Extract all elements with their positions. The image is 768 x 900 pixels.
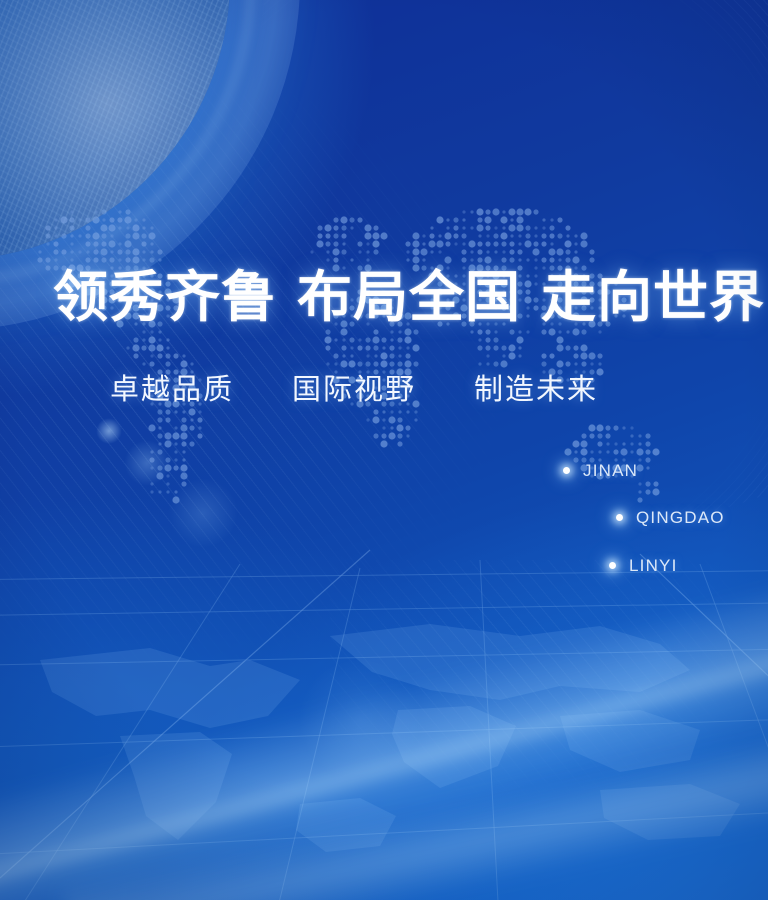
city-label: QINGDAO	[636, 508, 725, 528]
city-dot-icon	[616, 514, 623, 521]
subtitle-group-3: 制造未来	[474, 374, 598, 406]
page-subtitle: 卓越品质国际视野制造未来	[110, 371, 598, 409]
city-label: LINYI	[629, 556, 678, 576]
city-dot-icon	[609, 562, 616, 569]
banner-stage: 领秀齐鲁布局全国走向世界 卓越品质国际视野制造未来 JINANQINGDAOLI…	[0, 0, 768, 900]
headline-group-2: 布局全国	[297, 267, 521, 328]
headline-group-1: 领秀齐鲁	[53, 267, 277, 328]
subtitle-group-1: 卓越品质	[110, 374, 234, 406]
subtitle-group-2: 国际视野	[292, 374, 416, 406]
city-dot-icon	[563, 467, 570, 474]
city-label: JINAN	[583, 461, 638, 481]
page-title: 领秀齐鲁布局全国走向世界	[53, 266, 765, 330]
headline-group-3: 走向世界	[541, 267, 765, 328]
